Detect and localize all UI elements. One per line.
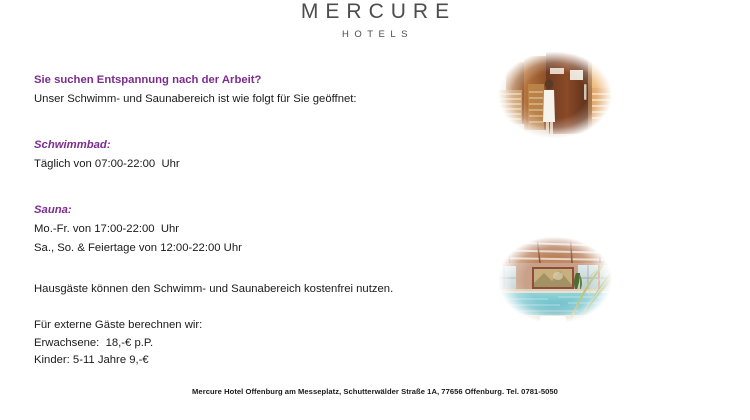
house-guests-note: Hausgäste können den Schwimm- und Saunab…: [34, 280, 464, 299]
pricing-block: Für externe Gäste berechnen wir: Erwachs…: [34, 317, 464, 370]
sauna-heading: Sauna:: [34, 201, 464, 220]
footer-address: Mercure Hotel Offenburg am Messeplatz, S…: [0, 387, 750, 396]
headline: Sie suchen Entspannung nach der Arbeit?: [34, 71, 464, 90]
spacer: [34, 258, 464, 280]
brand-subtitle: HOTELS: [0, 28, 750, 42]
pool-heading: Schwimmbad:: [34, 136, 464, 155]
price-children: Kinder: 5-11 Jahre 9,-€: [34, 352, 464, 370]
pool-hours: Täglich von 07:00-22:00 Uhr: [34, 155, 464, 174]
brand-name: MERCURE: [0, 0, 750, 24]
pricing-intro: Für externe Gäste berechnen wir:: [34, 317, 464, 335]
spacer: [34, 299, 464, 317]
spacer: [34, 174, 464, 201]
sauna-interior-photo: [488, 44, 622, 146]
spacer: [34, 109, 464, 136]
sauna-hours-weekday: Mo.-Fr. von 17:00-22:00 Uhr: [34, 220, 464, 239]
sauna-hours-weekend: Sa., So. & Feiertage von 12:00-22:00 Uhr: [34, 239, 464, 258]
price-adults: Erwachsene: 18,-€ p.P.: [34, 335, 464, 353]
brand-logo: MERCURE HOTELS: [0, 0, 750, 42]
content-column: Sie suchen Entspannung nach der Arbeit? …: [34, 71, 464, 370]
subline: Unser Schwimm- und Saunabereich ist wie …: [34, 90, 464, 109]
indoor-swimming-pool-photo: [488, 229, 622, 331]
